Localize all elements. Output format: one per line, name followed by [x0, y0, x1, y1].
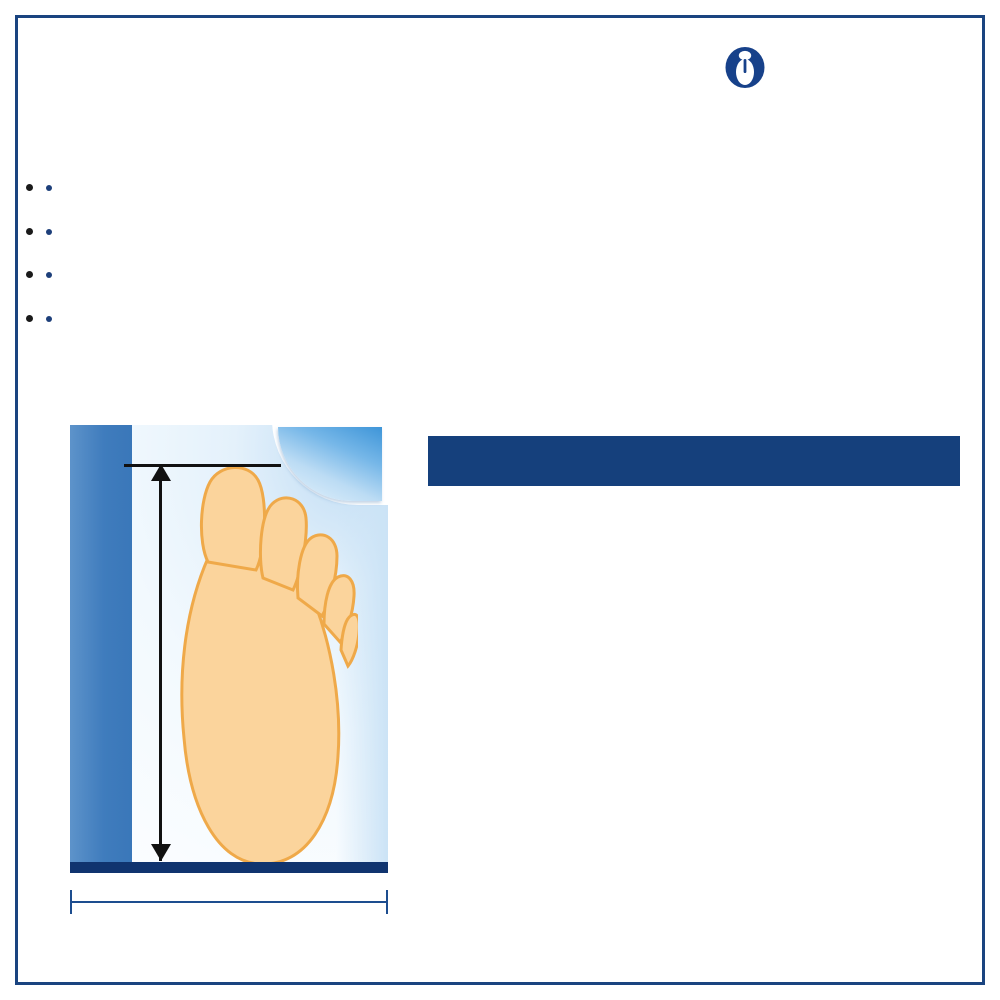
dimension-cap-left	[70, 890, 72, 914]
foot-measurement-diagram	[62, 398, 402, 910]
arrow-up-icon	[151, 464, 171, 481]
bullet-icon	[46, 316, 52, 322]
list-item	[46, 176, 936, 199]
size-chart-title	[429, 437, 960, 486]
brand-logo	[726, 46, 950, 108]
arrow-down-icon	[151, 844, 171, 861]
bullet-icon	[46, 272, 52, 278]
bullet-icon	[46, 185, 52, 191]
list-item	[46, 307, 936, 330]
bullet-icon	[46, 229, 52, 235]
infographic-page	[0, 0, 1000, 1000]
dimension-line	[70, 901, 388, 903]
brand-logo-wordmark	[726, 46, 950, 88]
footprint-o-icon	[725, 47, 765, 88]
foot-illustration	[148, 438, 358, 868]
wall-bar	[70, 862, 388, 873]
toe-mark-line	[124, 464, 281, 467]
measurement-arrow-line	[159, 466, 162, 861]
ruler-illustration	[70, 425, 132, 867]
list-item	[46, 220, 936, 243]
size-chart-table	[428, 436, 960, 486]
list-item	[46, 263, 936, 286]
dimension-cap-right	[386, 890, 388, 914]
instruction-list	[46, 176, 936, 350]
wall-dimension-line	[70, 884, 388, 922]
size-chart-table-wrapper	[428, 436, 960, 486]
table-title-row	[429, 437, 960, 486]
